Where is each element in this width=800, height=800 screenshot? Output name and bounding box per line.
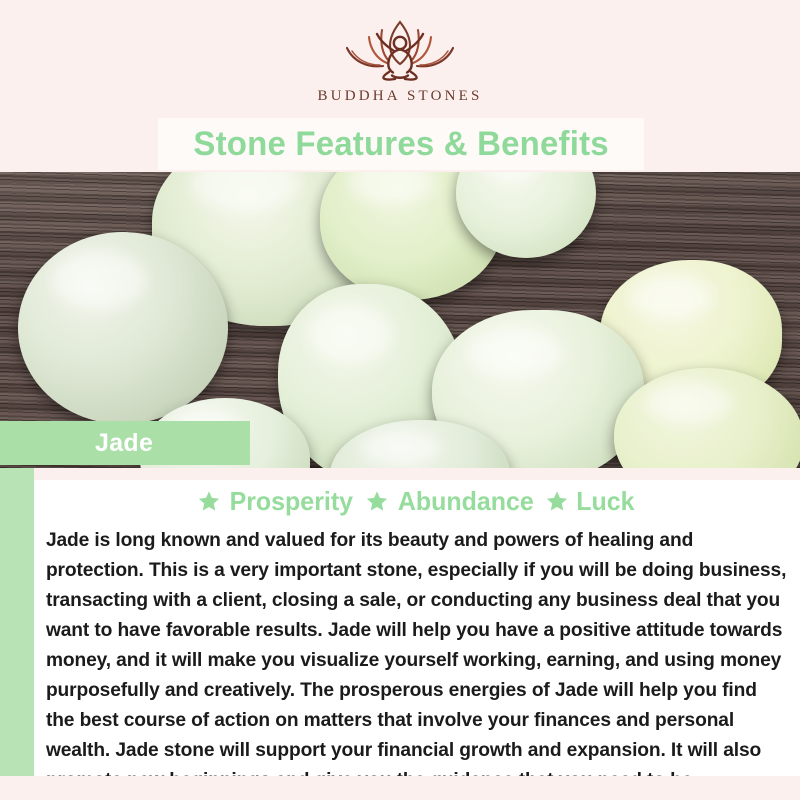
title-banner: Stone Features & Benefits [158, 118, 644, 170]
content-panel: Prosperity Abundance Luck Jade is long k… [34, 468, 800, 800]
star-icon [546, 490, 568, 512]
brand-name: BUDDHA STONES [317, 88, 482, 105]
star-icon [366, 490, 388, 512]
benefit-item: Luck [546, 486, 636, 517]
benefit-label: Luck [576, 486, 634, 517]
benefit-item: Prosperity [198, 486, 356, 517]
benefit-label: Abundance [398, 486, 534, 517]
stone-name-label: Jade [95, 429, 153, 458]
decor-pink-strip [34, 468, 800, 480]
benefit-item: Abundance [366, 486, 537, 517]
infographic-page: BUDDHA STONES Stone Features & Benefits … [0, 0, 800, 800]
stone-name-tag: Jade [0, 421, 250, 465]
star-icon [198, 490, 220, 512]
lotus-meditation-icon [325, 18, 475, 84]
jade-stone [18, 232, 228, 424]
page-title: Stone Features & Benefits [193, 125, 608, 164]
benefit-label: Prosperity [230, 486, 353, 517]
decor-footer-strip [0, 776, 800, 800]
stone-description: Jade is long known and valued for its be… [34, 526, 796, 800]
brand-logo: BUDDHA STONES [0, 18, 800, 105]
